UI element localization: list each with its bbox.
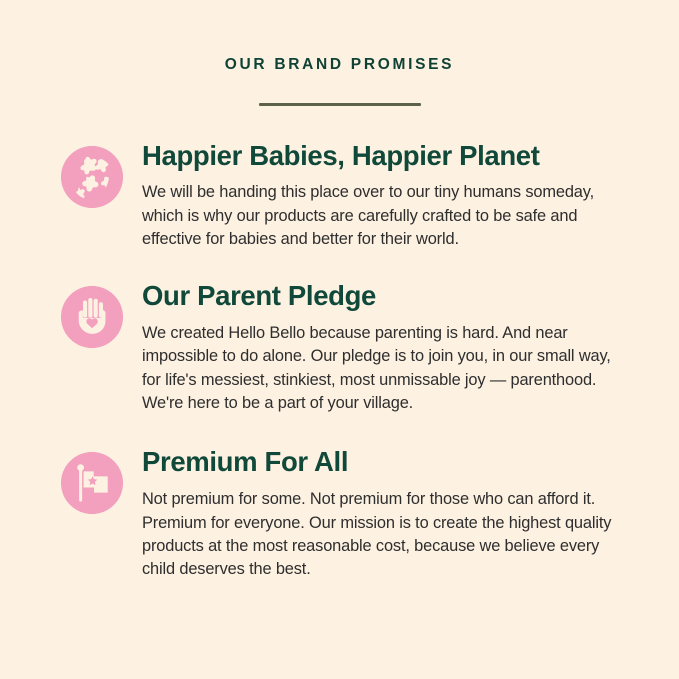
promise-text: We will be handing this place over to ou… <box>142 181 628 251</box>
promise-content: Our Parent Pledge We created Hello Bello… <box>142 282 647 415</box>
list-item: Our Parent Pledge We created Hello Bello… <box>61 282 647 415</box>
brand-promises-page: OUR BRAND PROMISES <box>0 0 679 679</box>
title-divider <box>259 103 421 106</box>
promise-text: We created Hello Bello because parenting… <box>142 322 628 415</box>
promises-list: Happier Babies, Happier Planet We will b… <box>0 142 679 582</box>
promise-title: Happier Babies, Happier Planet <box>142 142 647 171</box>
promise-content: Happier Babies, Happier Planet We will b… <box>142 142 647 252</box>
page-title: OUR BRAND PROMISES <box>0 57 679 73</box>
list-item: Happier Babies, Happier Planet We will b… <box>61 142 647 252</box>
page-header: OUR BRAND PROMISES <box>0 0 679 106</box>
promise-text: Not premium for some. Not premium for th… <box>142 488 628 581</box>
list-item: Premium For All Not premium for some. No… <box>61 448 647 581</box>
globe-icon <box>61 146 123 208</box>
flag-star-icon <box>61 452 123 514</box>
promise-title: Our Parent Pledge <box>142 282 647 311</box>
hand-heart-icon <box>61 286 123 348</box>
promise-title: Premium For All <box>142 448 647 477</box>
promise-content: Premium For All Not premium for some. No… <box>142 448 647 581</box>
